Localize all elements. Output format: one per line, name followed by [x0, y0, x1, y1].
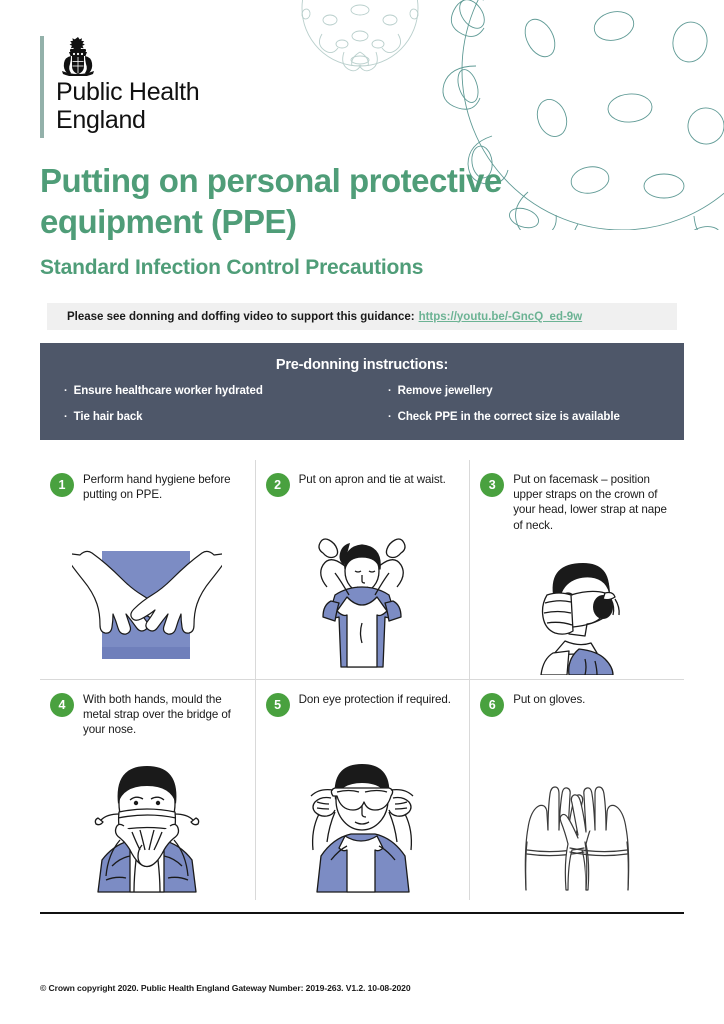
step-number-badge: 4	[50, 693, 74, 717]
logo-accent-rule	[40, 36, 44, 138]
step-number-badge: 3	[480, 473, 504, 497]
video-link[interactable]: https://youtu.be/-GncQ_ed-9w	[419, 311, 583, 323]
page-subtitle: Standard Infection Control Precautions	[40, 255, 660, 281]
person-moulding-nose-strap-illustration	[40, 756, 255, 896]
bullet-icon: ·	[388, 410, 392, 424]
bullet-icon: ·	[64, 384, 68, 398]
step-card-5: 5 Don eye protection if required.	[255, 680, 470, 900]
person-putting-on-apron-illustration	[256, 535, 470, 675]
page-title: Putting on personal protective equipment…	[40, 160, 660, 242]
step-card-1: 1 Perform hand hygiene before putting on…	[40, 460, 255, 679]
pre-donning-item: · Check PPE in the correct size is avail…	[388, 410, 668, 424]
pre-donning-title: Pre-donning instructions:	[40, 343, 684, 373]
step-number-badge: 6	[480, 693, 504, 717]
pre-donning-item-label: Check PPE in the correct size is availab…	[398, 410, 620, 424]
footer-divider	[40, 912, 684, 914]
pre-donning-instructions-panel: Pre-donning instructions: · Ensure healt…	[40, 343, 684, 440]
pre-donning-left-column: · Ensure healthcare worker hydrated · Ti…	[56, 384, 362, 436]
pre-donning-item-label: Ensure healthcare worker hydrated	[74, 384, 263, 398]
step-instruction-text: Don eye protection if required.	[299, 692, 451, 707]
phe-logo: Public Health England	[40, 36, 199, 138]
step-card-3: 3 Put on facemask – position upper strap…	[469, 460, 684, 679]
org-name-line2: England	[56, 108, 199, 133]
steps-grid: 1 Perform hand hygiene before putting on…	[40, 460, 684, 900]
video-guidance-banner: Please see donning and doffing video to …	[47, 303, 677, 330]
steps-row-1: 1 Perform hand hygiene before putting on…	[40, 460, 684, 680]
step-card-2: 2 Put on apron and tie at waist.	[255, 460, 470, 679]
bullet-icon: ·	[64, 410, 68, 424]
step-instruction-text: Put on facemask – position upper straps …	[513, 472, 674, 533]
ppe-donning-poster: Public Health England Putting on persona…	[0, 0, 724, 1024]
two-gloved-hands-illustration	[470, 756, 684, 896]
step-number-badge: 1	[50, 473, 74, 497]
pre-donning-item-label: Tie hair back	[74, 410, 143, 424]
steps-row-2: 4 With both hands, mould the metal strap…	[40, 680, 684, 900]
step-number-badge: 5	[266, 693, 290, 717]
footer-copyright: © Crown copyright 2020. Public Health En…	[40, 983, 411, 993]
person-side-profile-facemask-illustration	[470, 535, 684, 675]
royal-coat-of-arms-icon	[56, 36, 100, 76]
pre-donning-item-label: Remove jewellery	[398, 384, 493, 398]
pre-donning-right-column: · Remove jewellery · Check PPE in the co…	[362, 384, 668, 436]
step-number-badge: 2	[266, 473, 290, 497]
step-instruction-text: With both hands, mould the metal strap o…	[83, 692, 245, 738]
person-putting-on-goggles-illustration	[256, 756, 470, 896]
pre-donning-item: · Remove jewellery	[388, 384, 668, 398]
video-banner-label: Please see donning and doffing video to …	[67, 311, 415, 323]
step-instruction-text: Put on apron and tie at waist.	[299, 472, 446, 487]
step-instruction-text: Put on gloves.	[513, 692, 585, 707]
bullet-icon: ·	[388, 384, 392, 398]
crossed-hands-hand-hygiene-illustration	[40, 535, 255, 675]
pre-donning-item: · Tie hair back	[64, 410, 362, 424]
step-card-6: 6 Put on gloves.	[469, 680, 684, 900]
step-card-4: 4 With both hands, mould the metal strap…	[40, 680, 255, 900]
org-name-line1: Public Health	[56, 80, 199, 105]
pre-donning-item: · Ensure healthcare worker hydrated	[64, 384, 362, 398]
step-instruction-text: Perform hand hygiene before putting on P…	[83, 472, 245, 502]
